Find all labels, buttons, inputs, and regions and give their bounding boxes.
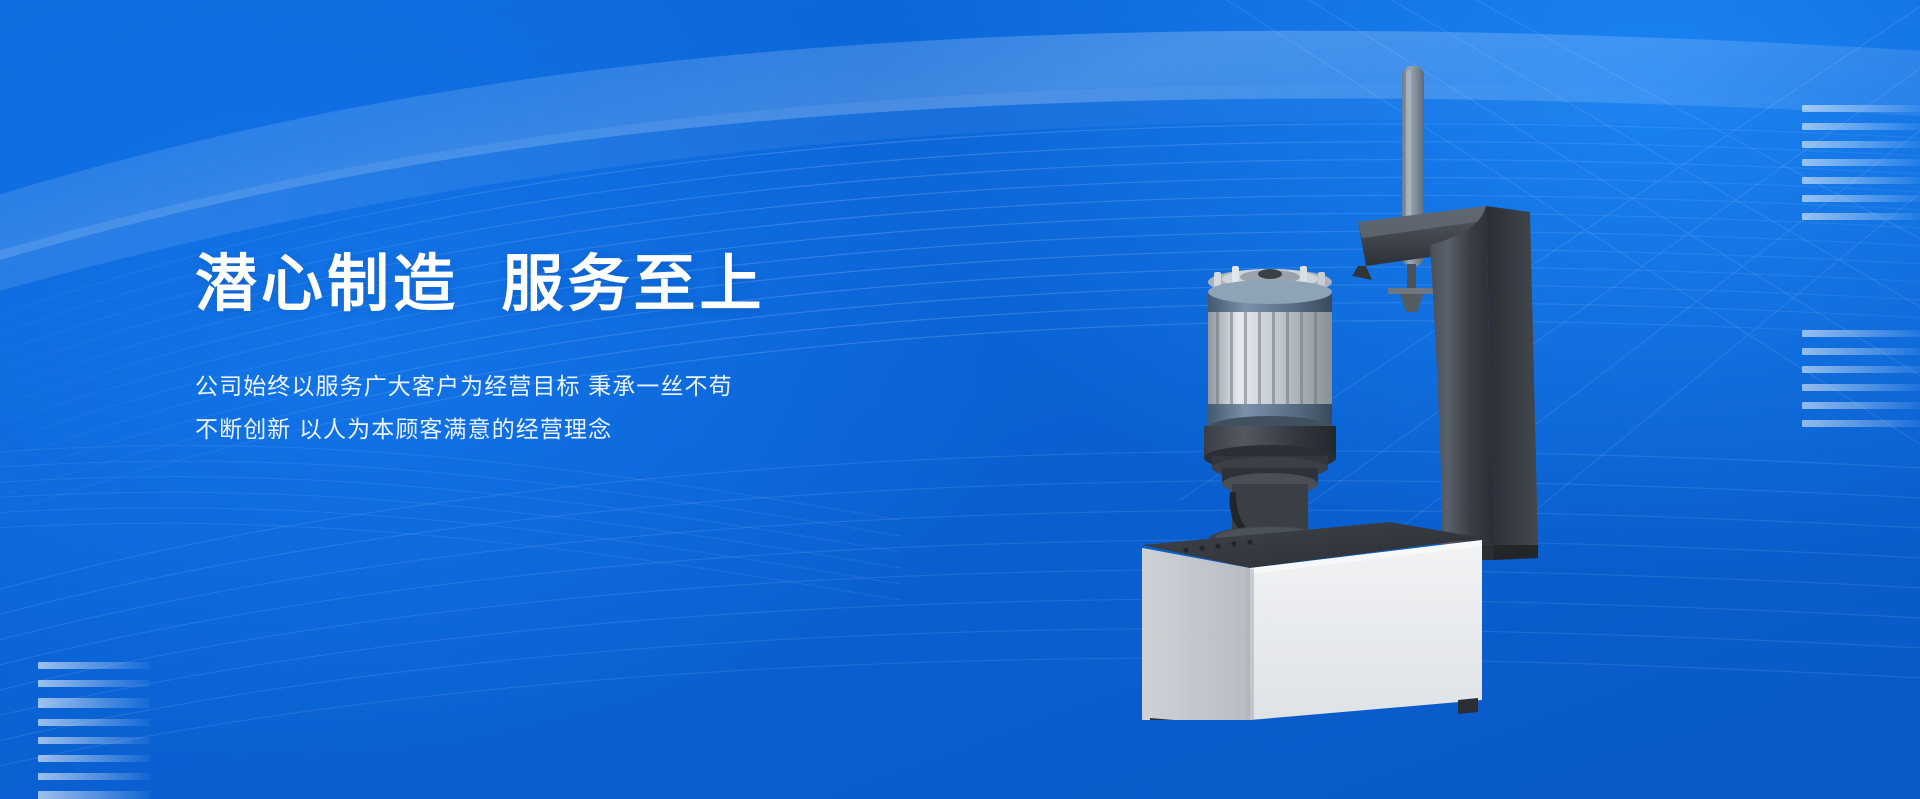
decor-bar: [1802, 195, 1920, 202]
decor-bar: [38, 698, 150, 708]
decor-bar: [38, 773, 150, 780]
decor-bar: [1802, 384, 1920, 391]
decor-bar: [38, 662, 150, 669]
banner-subtitle-line-1: 公司始终以服务广大客户为经营目标 秉承一丝不苟: [195, 365, 955, 408]
decor-bar: [1802, 420, 1920, 427]
industrial-press-machine-image: [1090, 40, 1650, 720]
decor-bar: [38, 719, 150, 726]
banner-headline: 潜心制造 服务至上: [195, 250, 955, 319]
decor-bar: [1802, 177, 1920, 184]
decor-bar: [1802, 348, 1920, 355]
banner-subtitle: 公司始终以服务广大客户为经营目标 秉承一丝不苟 不断创新 以人为本顾客满意的经营…: [195, 365, 955, 450]
decor-bars-right-top: [1802, 105, 1920, 231]
banner-subtitle-line-2: 不断创新 以人为本顾客满意的经营理念: [195, 408, 955, 451]
white-control-cabinet-shape: [1142, 522, 1482, 720]
decor-bar: [38, 737, 150, 744]
decor-bar: [1802, 141, 1920, 148]
decor-bar: [1802, 213, 1920, 220]
decor-bar: [1802, 105, 1920, 112]
support-column-shape: [1430, 206, 1538, 560]
decor-bar: [38, 755, 150, 762]
decor-bar: [38, 680, 150, 687]
decor-bar: [1802, 159, 1920, 166]
filter-slats: [1208, 312, 1332, 408]
decor-bar: [1802, 366, 1920, 373]
decor-bar: [1802, 330, 1920, 337]
banner-copy: 潜心制造 服务至上 公司始终以服务广大客户为经营目标 秉承一丝不苟 不断创新 以…: [195, 250, 955, 451]
decor-bar: [1802, 123, 1920, 130]
hero-banner: 潜心制造 服务至上 公司始终以服务广大客户为经营目标 秉承一丝不苟 不断创新 以…: [0, 0, 1920, 799]
decor-bars-left-bottom: [38, 662, 150, 799]
cylindrical-filter-housing-shape: [1204, 266, 1336, 554]
decor-bars-right-bottom: [1802, 330, 1920, 438]
decor-bar: [1802, 402, 1920, 409]
decor-bar: [38, 791, 150, 799]
